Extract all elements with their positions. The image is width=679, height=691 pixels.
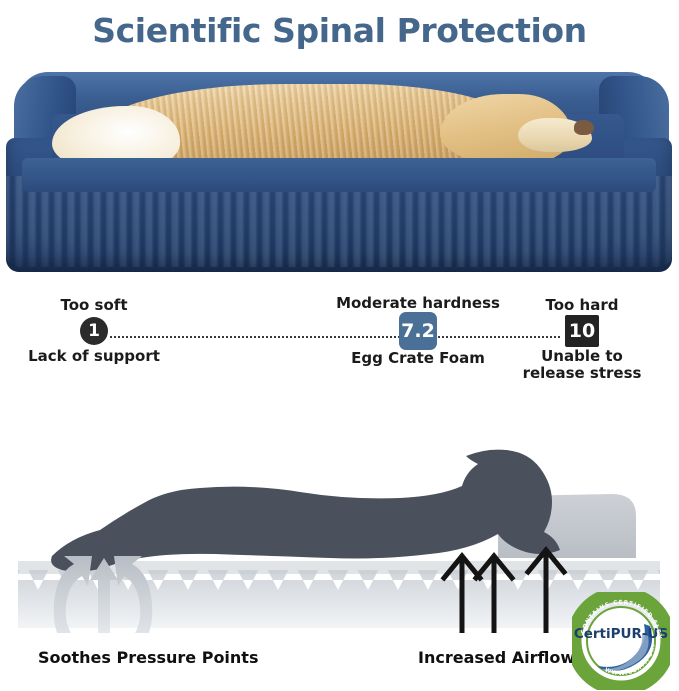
- bed-front-lip: [22, 158, 656, 192]
- scale-badge-10: 10: [565, 315, 599, 347]
- scale-stop-too-hard: Too hard 10 Unable to release stress: [512, 296, 652, 382]
- scale-stop-too-soft: Too soft 1 Lack of support: [27, 296, 161, 365]
- dog-nose: [574, 120, 594, 135]
- hero-product-photo: [0, 58, 679, 286]
- caption-increased-airflow: Increased Airflow: [418, 648, 575, 667]
- page-title: Scientific Spinal Protection: [0, 2, 679, 58]
- scale-stop-top-label: Moderate hardness: [336, 294, 500, 312]
- scale-stop-top-label: Too soft: [60, 296, 127, 314]
- scale-stop-top-label: Too hard: [545, 296, 618, 314]
- sleeping-dog-photo: [52, 76, 600, 170]
- scale-badge-7-2: 7.2: [399, 312, 437, 350]
- scale-stop-bottom-label: Lack of support: [28, 348, 160, 365]
- scale-stop-moderate-hardness: Moderate hardness 7.2 Egg Crate Foam: [338, 294, 498, 367]
- caption-soothes-pressure-points: Soothes Pressure Points: [38, 648, 258, 667]
- product-infographic: Scientific Spinal Protection Too soft 1 …: [0, 0, 679, 691]
- scale-stop-bottom-label: Egg Crate Foam: [351, 350, 485, 367]
- hardness-scale: Too soft 1 Lack of support Moderate hard…: [0, 292, 679, 396]
- certipur-us-seal: CertiPUR-US ® CONTAINS CERTIFIED FLEXIBL…: [572, 592, 670, 690]
- scale-badge-1: 1: [80, 317, 108, 345]
- dog-silhouette: [51, 450, 560, 572]
- page-title-text: Scientific Spinal Protection: [92, 11, 586, 50]
- scale-stop-bottom-line-1: Unable to: [541, 347, 623, 365]
- scale-stop-bottom-label: Unable to release stress: [523, 348, 642, 382]
- scale-stop-bottom-line-2: release stress: [523, 364, 642, 382]
- certipur-us-seal-svg: CertiPUR-US ® CONTAINS CERTIFIED FLEXIBL…: [572, 592, 670, 690]
